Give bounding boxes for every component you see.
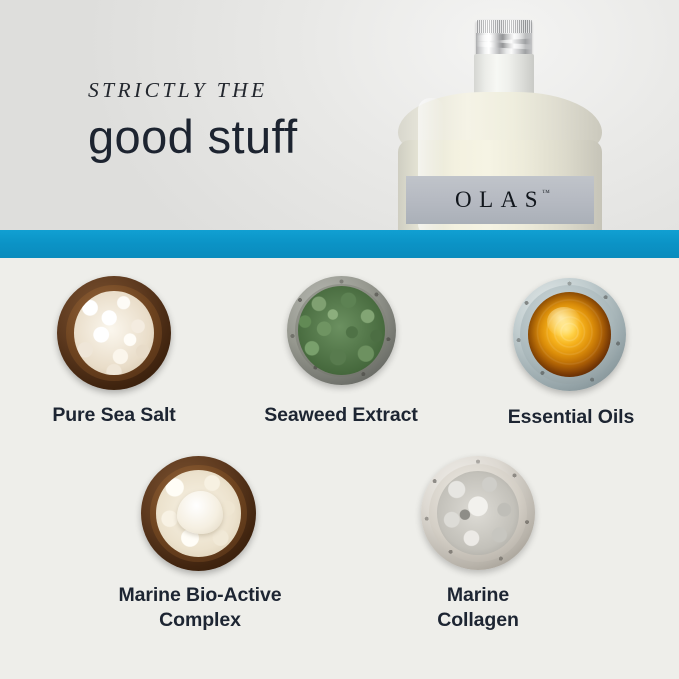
blue-divider-bar [0,230,679,258]
cap-highlight-band-1 [476,33,532,42]
seaweed-flakes [298,286,385,375]
marine-collagen-powder [437,471,519,555]
bottle-label: OLAS ™ [406,176,594,224]
rustic-bowl-icon [421,456,535,570]
oil-specular-highlight [547,307,581,336]
brand-name: OLAS [406,187,594,213]
bottle-neck [474,54,534,96]
ingredient-label-marine-collagen: Marine Collagen [393,583,563,633]
ingredient-label-seaweed-extract: Seaweed Extract [245,403,437,428]
stone-bowl-icon [287,276,396,385]
hero-text-block: STRICTLY THE good stuff [88,78,298,163]
cap-ribs [476,20,532,33]
trademark-symbol: ™ [542,188,550,197]
bottle-cap-icon [476,20,532,56]
wooden-bowl-icon [141,456,256,571]
hero-headline: good stuff [88,112,298,163]
powder-mound [177,491,223,535]
ingredients-section: Pure Sea Salt Seaweed Extract Essential … [0,258,679,679]
ceramic-bowl-icon [513,278,626,391]
infographic-page: STRICTLY THE good stuff OLAS ™ [0,0,679,679]
hero-eyebrow: STRICTLY THE [88,78,298,103]
sea-salt-crystals [74,291,154,375]
ingredient-label-marine-bio-active-complex: Marine Bio-Active Complex [100,583,300,633]
cap-highlight-band-2 [476,42,532,50]
wooden-bowl-icon [57,276,171,390]
product-bottle-image: OLAS ™ [388,0,600,230]
ingredient-label-essential-oils: Essential Oils [487,405,655,430]
ingredient-label-pure-sea-salt: Pure Sea Salt [34,403,194,428]
hero-section: STRICTLY THE good stuff OLAS ™ [0,0,679,230]
